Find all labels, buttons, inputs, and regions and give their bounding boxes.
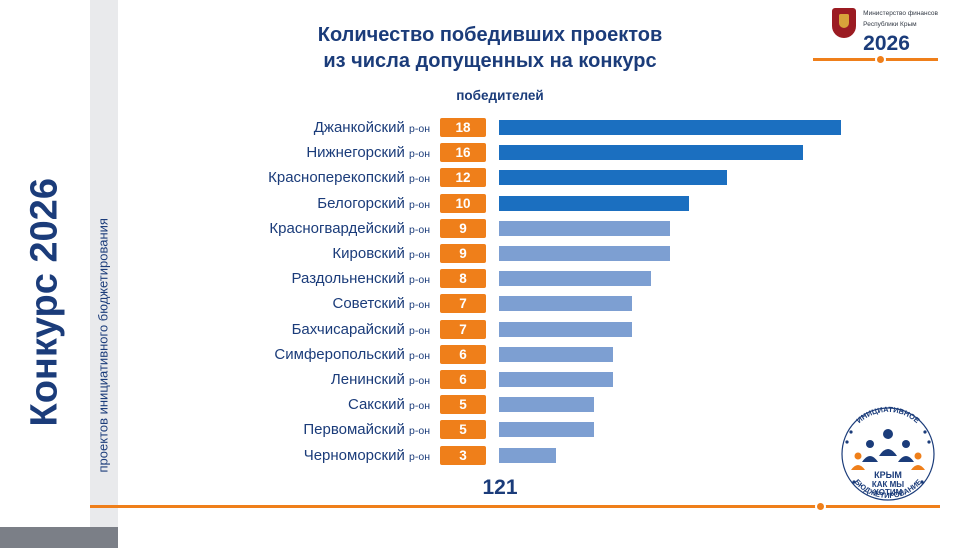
chart-row-label-suffix: р-он <box>409 199 430 211</box>
chart-value-badge: 6 <box>440 370 486 389</box>
chart-bar-area <box>486 342 960 367</box>
chart-row-label: Первомайский р-он <box>118 421 440 438</box>
chart-row: Белогорский р-он10 <box>118 191 960 216</box>
chart-row-label-suffix: р-он <box>409 148 430 160</box>
chart-value-badge: 9 <box>440 219 486 238</box>
chart-value-badge: 16 <box>440 143 486 162</box>
chart-row-label-suffix: р-он <box>409 325 430 337</box>
chart-value-badge: 3 <box>440 446 486 465</box>
page-title-line2: из числа допущенных на конкурс <box>250 48 730 74</box>
chart-value-badge: 6 <box>440 345 486 364</box>
chart-row-label: Раздольненский р-он <box>118 270 440 287</box>
ministry-emblem: Министерство финансов Республики Крым 20… <box>832 8 938 54</box>
chart-bar <box>499 347 613 362</box>
chart-column-header: победителей <box>405 88 595 103</box>
chart-bar-area <box>486 216 960 241</box>
chart-bar-area <box>486 140 960 165</box>
chart-bar-area <box>486 291 960 316</box>
chart-bar <box>499 221 670 236</box>
sidebar-title: Конкурс 2026 <box>24 0 67 427</box>
chart-row-label-suffix: р-он <box>409 173 430 185</box>
chart-row-label-suffix: р-он <box>409 451 430 463</box>
chart-row: Кировский р-он9 <box>118 241 960 266</box>
chart-bar <box>499 422 594 437</box>
chart-row-label: Симферопольский р-он <box>118 346 440 363</box>
chart-bar <box>499 448 556 463</box>
footer-dot-icon <box>815 501 826 512</box>
page-title: Количество победивших проектов из числа … <box>250 22 730 74</box>
logo-line-4: ХОТИМ <box>874 488 903 497</box>
sidebar-text-wrap: Конкурс 2026 проектов инициативного бюдж… <box>0 0 90 548</box>
chart-row-label: Нижнегорский р-он <box>118 144 440 161</box>
chart-row-label: Бахчисарайский р-он <box>118 321 440 338</box>
chart-bar <box>499 246 670 261</box>
chart-total: 121 <box>405 476 595 500</box>
chart-value-badge: 18 <box>440 118 486 137</box>
chart-row-label: Советский р-он <box>118 295 440 312</box>
chart-value-badge: 5 <box>440 420 486 439</box>
page-title-line1: Количество победивших проектов <box>250 22 730 48</box>
initiative-budgeting-logo: ИНИЦИАТИВНОЕ БЮДЖЕТИРОВАНИЕ КРЫМ КАК МЫ … <box>834 398 942 506</box>
chart-row: Советский р-он7 <box>118 291 960 316</box>
svg-text:ИНИЦИАТИВНОЕ: ИНИЦИАТИВНОЕ <box>855 405 922 425</box>
chart-row: Нижнегорский р-он16 <box>118 140 960 165</box>
chart-value-badge: 7 <box>440 294 486 313</box>
header-year: 2026 <box>863 33 938 54</box>
chart-bar-area <box>486 367 960 392</box>
chart-row-label: Белогорский р-он <box>118 195 440 212</box>
chart-row-label: Черноморский р-он <box>118 447 440 464</box>
chart-row-label-suffix: р-он <box>409 299 430 311</box>
chart-row: Раздольненский р-он8 <box>118 266 960 291</box>
chart-row: Джанкойский р-он18 <box>118 115 960 140</box>
crimea-coat-of-arms-icon <box>832 8 856 38</box>
chart-row-label: Джанкойский р-он <box>118 119 440 136</box>
chart-row-label-suffix: р-он <box>409 375 430 387</box>
chart-bar-area <box>486 317 960 342</box>
header-dot-icon <box>875 54 886 65</box>
chart-row-label: Красногвардейский р-он <box>118 220 440 237</box>
emblem-text-block: Министерство финансов Республики Крым 20… <box>863 8 938 54</box>
chart-row-label: Сакский р-он <box>118 396 440 413</box>
chart-row-label-suffix: р-он <box>409 400 430 412</box>
chart-bar <box>499 372 613 387</box>
chart-row-label-suffix: р-он <box>409 249 430 261</box>
chart-bar <box>499 271 651 286</box>
chart-bar-area <box>486 165 960 190</box>
sidebar-subtitle: проектов инициативного бюджетирования <box>96 43 111 473</box>
chart-bar-area <box>486 115 960 140</box>
chart-bar <box>499 196 689 211</box>
chart-value-badge: 5 <box>440 395 486 414</box>
chart-bar <box>499 145 803 160</box>
ministry-line-2: Республики Крым <box>863 19 938 30</box>
chart-value-badge: 9 <box>440 244 486 263</box>
chart-row-label: Красноперекопский р-он <box>118 169 440 186</box>
chart-bar-area <box>486 266 960 291</box>
chart-row-label-suffix: р-он <box>409 274 430 286</box>
chart-value-badge: 8 <box>440 269 486 288</box>
chart-row-label-suffix: р-он <box>409 350 430 362</box>
chart-bar <box>499 170 727 185</box>
chart-row-label: Ленинский р-он <box>118 371 440 388</box>
chart-value-badge: 10 <box>440 194 486 213</box>
chart-row-label-suffix: р-он <box>409 123 430 135</box>
chart-bar <box>499 322 632 337</box>
chart-row: Симферопольский р-он6 <box>118 342 960 367</box>
chart-row: Ленинский р-он6 <box>118 367 960 392</box>
footer-rule <box>90 505 940 508</box>
logo-line-1: ИНИЦИАТИВНОЕ <box>855 405 922 425</box>
chart-bar <box>499 397 594 412</box>
ministry-line-1: Министерство финансов <box>863 8 938 19</box>
chart-row: Красногвардейский р-он9 <box>118 216 960 241</box>
chart-value-badge: 12 <box>440 168 486 187</box>
logo-line-2: КРЫМ <box>874 470 902 480</box>
chart-value-badge: 7 <box>440 320 486 339</box>
chart-bar <box>499 120 841 135</box>
chart-bar-area <box>486 191 960 216</box>
chart-row-label: Кировский р-он <box>118 245 440 262</box>
chart-bar-area <box>486 241 960 266</box>
chart-row-label-suffix: р-он <box>409 224 430 236</box>
chart-bar <box>499 296 632 311</box>
chart-row: Бахчисарайский р-он7 <box>118 317 960 342</box>
chart-row: Красноперекопский р-он12 <box>118 165 960 190</box>
chart-row-label-suffix: р-он <box>409 425 430 437</box>
